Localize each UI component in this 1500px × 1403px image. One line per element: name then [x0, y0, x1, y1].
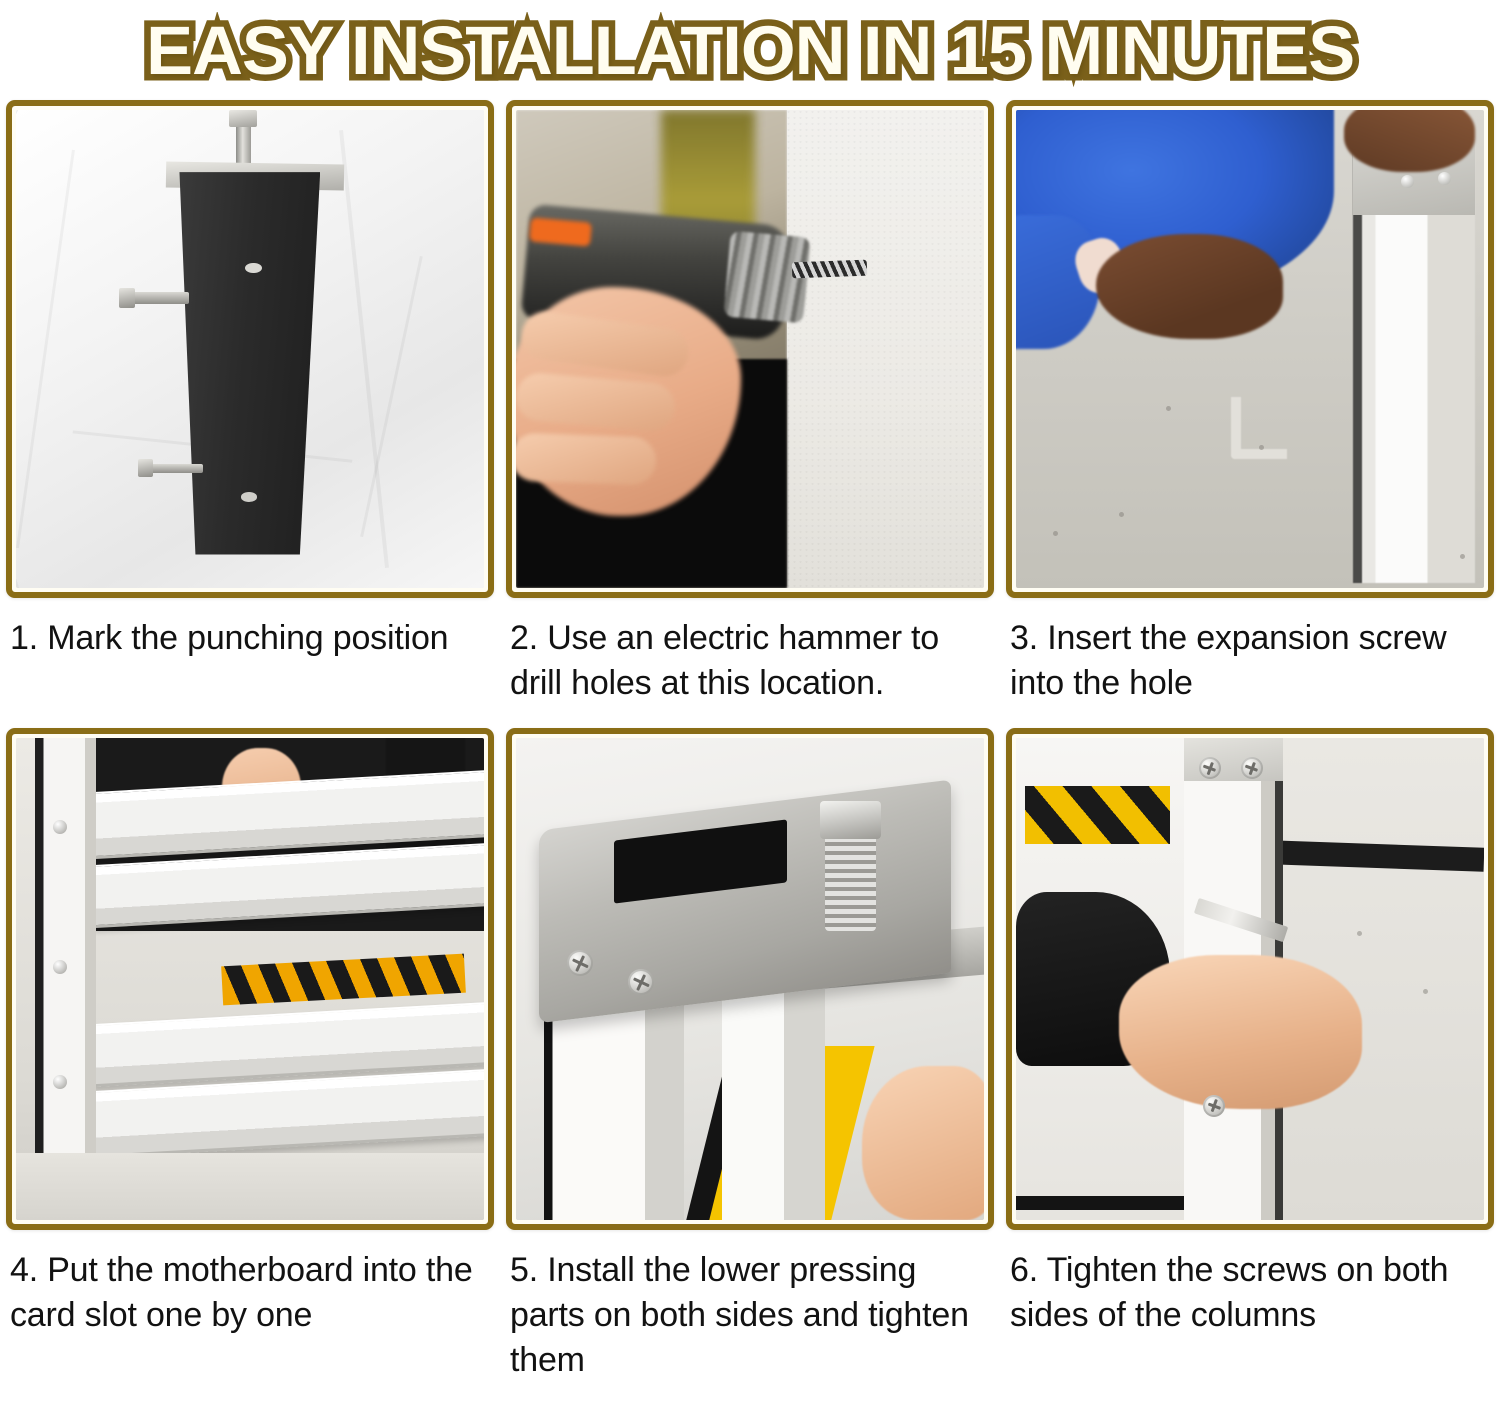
- step-card-2: 2. Use an electric hammer to drill holes…: [506, 100, 994, 728]
- steps-row-1: 1. Mark the punching position: [0, 100, 1500, 728]
- installation-guide-page: EASY INSTALLATION IN 15 MINUTES: [0, 0, 1500, 1403]
- step-card-4: 4. Put the motherboard into the card slo…: [6, 728, 494, 1393]
- step-card-1: 1. Mark the punching position: [6, 100, 494, 728]
- step-4-photo-frame: [6, 728, 494, 1230]
- step-card-6: 6. Tighten the screws on both sides of t…: [1006, 728, 1494, 1393]
- step-5-photo-frame: [506, 728, 994, 1230]
- step-3-photo: [1016, 110, 1484, 588]
- step-2-caption: 2. Use an electric hammer to drill holes…: [506, 598, 994, 728]
- step-1-photo-frame: [6, 100, 494, 598]
- step-1-photo: [16, 110, 484, 588]
- step-3-photo-frame: [1006, 100, 1494, 598]
- step-6-photo: [1016, 738, 1484, 1220]
- step-3-caption: 3. Insert the expansion screw into the h…: [1006, 598, 1494, 728]
- page-title-bar: EASY INSTALLATION IN 15 MINUTES: [0, 0, 1500, 100]
- step-1-caption: 1. Mark the punching position: [6, 598, 494, 728]
- step-6-photo-frame: [1006, 728, 1494, 1230]
- step-5-caption: 5. Install the lower pressing parts on b…: [506, 1230, 994, 1393]
- step-2-photo: [516, 110, 984, 588]
- page-title: EASY INSTALLATION IN 15 MINUTES: [146, 11, 1354, 90]
- step-5-photo: [516, 738, 984, 1220]
- steps-row-2: 4. Put the motherboard into the card slo…: [0, 728, 1500, 1393]
- step-2-photo-frame: [506, 100, 994, 598]
- step-card-5: 5. Install the lower pressing parts on b…: [506, 728, 994, 1393]
- step-card-3: 3. Insert the expansion screw into the h…: [1006, 100, 1494, 728]
- step-6-caption: 6. Tighten the screws on both sides of t…: [1006, 1230, 1494, 1370]
- step-4-caption: 4. Put the motherboard into the card slo…: [6, 1230, 494, 1370]
- step-4-photo: [16, 738, 484, 1220]
